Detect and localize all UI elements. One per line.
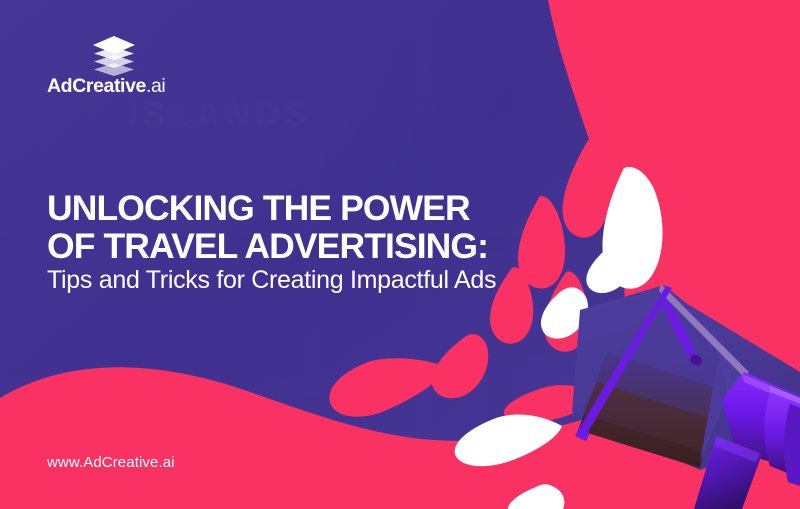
brand-logo-text: AdCreative.ai — [47, 77, 165, 97]
headline-line-2: OF TRAVEL ADVERTISING: — [47, 227, 517, 265]
banner-canvas: ISLANDS — [0, 0, 800, 509]
brand-suffix: .ai — [146, 75, 165, 97]
footer-website-url[interactable]: www.AdCreative.ai — [47, 454, 175, 471]
page-title: UNLOCKING THE POWER OF TRAVEL ADVERTISIN… — [47, 189, 517, 265]
page-subtitle: Tips and Tricks for Creating Impactful A… — [47, 266, 496, 295]
stacked-layers-icon — [91, 36, 137, 76]
brand-name: AdCreative — [47, 75, 146, 97]
brand-logo[interactable]: AdCreative.ai — [47, 36, 165, 97]
headline-line-1: UNLOCKING THE POWER — [47, 189, 517, 227]
